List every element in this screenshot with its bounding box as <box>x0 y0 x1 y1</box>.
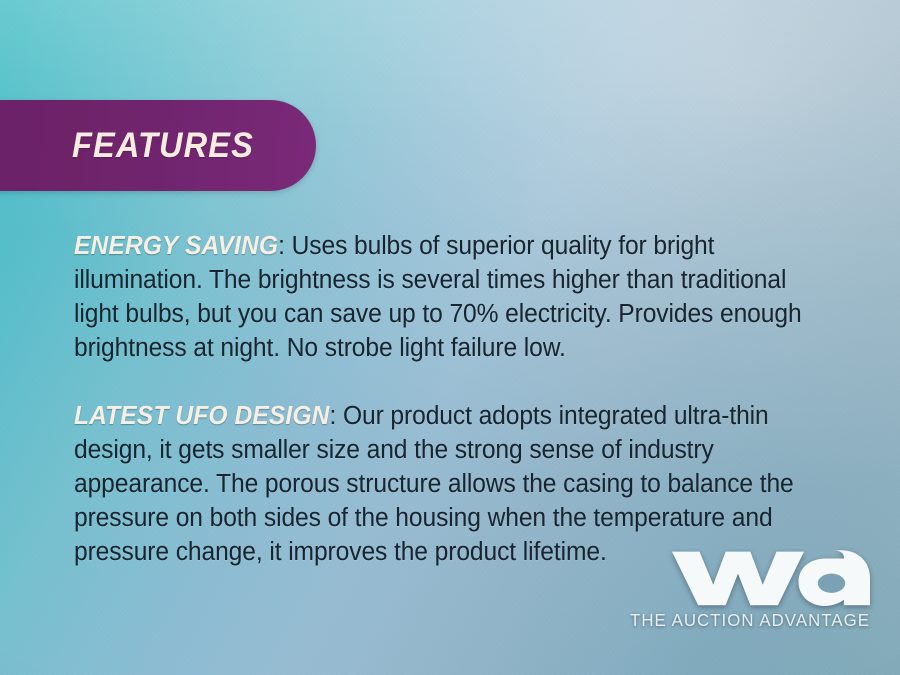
features-heading: FEATURES <box>72 126 254 166</box>
feature-separator: : <box>278 232 291 260</box>
watermark-tagline: THE AUCTION ADVANTAGE <box>629 610 871 631</box>
product-packaging-panel: FEATURES ENERGY SAVING: Uses bulbs of su… <box>0 0 900 675</box>
feature-lede: LATEST UFO DESIGN <box>74 402 329 430</box>
features-banner: FEATURES <box>0 100 316 191</box>
feature-paragraph: ENERGY SAVING: Uses bulbs of superior qu… <box>74 229 809 365</box>
feature-separator: : <box>329 402 342 430</box>
features-copy: ENERGY SAVING: Uses bulbs of superior qu… <box>74 203 836 594</box>
feature-lede: ENERGY SAVING <box>74 232 278 260</box>
feature-paragraph: LATEST UFO DESIGN: Our product adopts in… <box>74 399 809 569</box>
